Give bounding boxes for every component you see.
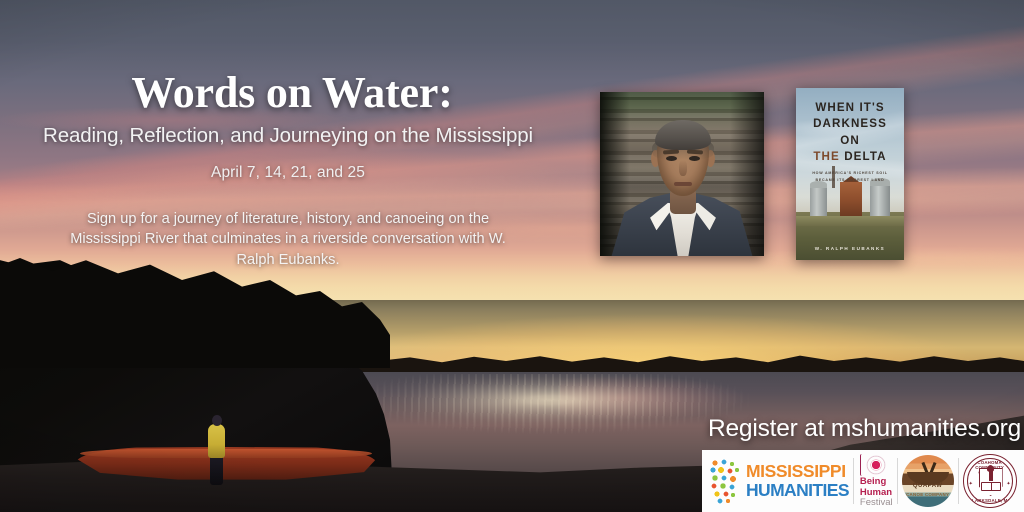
page-title: Words on Water:	[8, 70, 576, 116]
book-barn	[840, 182, 862, 216]
subtitle: Reading, Reflection, and Journeying on t…	[0, 124, 576, 148]
book-title-accent: THE	[813, 150, 840, 163]
register-cta[interactable]: Register at mshumanities.org	[708, 415, 1021, 443]
logo-divider-1	[853, 458, 854, 504]
logo-divider-2	[897, 458, 898, 504]
book-title-line-4: THE DELTA	[796, 149, 904, 165]
quapaw-canoe-company-logo[interactable]: QUAPAW CANOE COMPANY	[902, 455, 954, 507]
event-dates: April 7, 14, 21, and 25	[0, 164, 576, 182]
book-silo-left	[810, 186, 827, 216]
coahoma-open-book-icon	[981, 482, 1001, 491]
portrait-eye-left	[666, 156, 677, 161]
mississippi-humanities-line-1: MISSISSIPPI	[746, 463, 849, 481]
portrait-eye-right	[689, 156, 700, 161]
coahoma-bottom-text: CLARKSDALE, MS	[964, 498, 1016, 503]
coahoma-star-left-icon: ✦	[969, 481, 973, 487]
person-head	[212, 415, 222, 426]
being-human-festival-logo[interactable]: Being Human Festival	[858, 454, 893, 509]
quapaw-name: QUAPAW	[902, 483, 954, 489]
event-poster: Words on Water: Reading, Reflection, and…	[0, 0, 1024, 512]
portrait-nose	[679, 160, 687, 176]
portrait-mouth	[674, 182, 692, 186]
being-human-spiral-icon	[860, 454, 886, 476]
event-description: Sign up for a journey of literature, his…	[0, 209, 576, 271]
book-title: WHEN IT'S DARKNESS ON THE DELTA	[796, 100, 904, 166]
logo-divider-3	[958, 458, 959, 504]
book-title-line-1: WHEN IT'S	[796, 100, 904, 116]
mississippi-state-dots-icon	[708, 458, 742, 504]
coahoma-star-right-icon: ✦	[1006, 481, 1010, 487]
book-silo-right	[870, 184, 890, 216]
coahoma-community-college-logo[interactable]: COAHOMA COMMUNITY COLLEGE ✦ ✦ CLARKSDALE…	[963, 454, 1017, 508]
book-title-line-4-rest: DELTA	[840, 150, 887, 163]
canoe-gunwale	[80, 449, 372, 458]
book-title-line-3: ON	[796, 133, 904, 149]
author-portrait	[600, 92, 764, 256]
coahoma-torch-icon	[989, 470, 993, 481]
mississippi-humanities-wordmark: MISSISSIPPI HUMANITIES	[746, 463, 849, 499]
mississippi-humanities-logo[interactable]: MISSISSIPPI HUMANITIES	[708, 458, 849, 504]
person-legs	[210, 455, 223, 485]
being-human-line-2: Human	[860, 488, 892, 498]
book-title-line-2: DARKNESS	[796, 116, 904, 132]
book-cover: WHEN IT'S DARKNESS ON THE DELTA HOW AMER…	[796, 88, 904, 260]
headline-block: Words on Water: Reading, Reflection, and…	[0, 70, 576, 271]
being-human-line-3: Festival	[860, 498, 893, 508]
book-subtitle: HOW AMERICA'S RICHEST SOIL BECAME ITS PO…	[796, 170, 904, 184]
book-field-highlight	[796, 216, 904, 226]
person-yellow-jacket	[208, 424, 225, 458]
sponsor-logo-bar: MISSISSIPPI HUMANITIES Being Human Festi…	[702, 450, 1024, 512]
being-human-line-1: Being	[860, 477, 886, 487]
mississippi-humanities-line-2: HUMANITIES	[746, 482, 849, 500]
book-author: W. RALPH EUBANKS	[796, 246, 904, 251]
quapaw-subtitle: CANOE COMPANY	[902, 492, 954, 497]
